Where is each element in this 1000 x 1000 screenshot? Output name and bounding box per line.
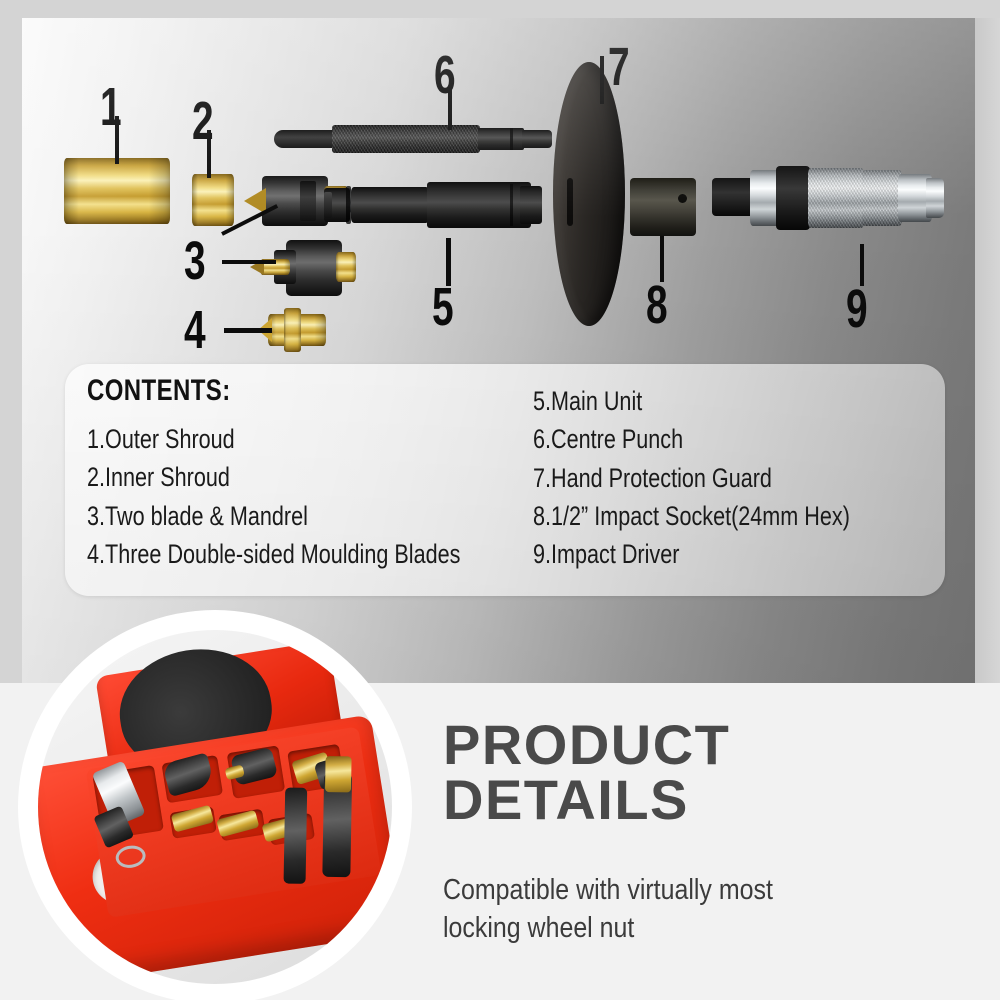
contents-item: 4.Three Double-sided Moulding Blades	[87, 535, 460, 573]
heading-line-1: PRODUCT	[443, 718, 730, 773]
callout-number-5: 5	[432, 280, 453, 334]
contents-panel: CONTENTS: 1.Outer Shroud 2.Inner Shroud …	[65, 364, 945, 596]
contents-item: 9.Impact Driver	[533, 535, 850, 573]
product-photo	[38, 630, 392, 984]
callout-number-9: 9	[846, 282, 867, 336]
tool-split-ring	[114, 844, 147, 870]
callout-number-7: 7	[608, 40, 629, 94]
callout-number-3: 3	[184, 234, 205, 288]
tool-centre-punch	[284, 788, 308, 884]
callout-number-6: 6	[434, 48, 455, 102]
contents-item: 2.Inner Shroud	[87, 458, 460, 496]
contents-right-column: 5.Main Unit 6.Centre Punch 7.Hand Protec…	[533, 382, 929, 574]
product-details-heading: PRODUCT DETAILS	[443, 718, 730, 828]
contents-item: 3.Two blade & Mandrel	[87, 497, 460, 535]
leader-line-7	[600, 56, 604, 104]
case-base	[38, 714, 392, 984]
leader-line-3b	[222, 260, 276, 264]
heading-line-2: DETAILS	[443, 773, 730, 828]
contents-left-column: 1.Outer Shroud 2.Inner Shroud 3.Two blad…	[87, 420, 554, 573]
right-edge-strip	[975, 18, 1000, 683]
contents-item: 1.Outer Shroud	[87, 420, 460, 458]
callout-number-2: 2	[192, 94, 213, 148]
part-impact-driver	[712, 158, 944, 248]
callout-number-8: 8	[646, 278, 667, 332]
callout-number-4: 4	[184, 303, 205, 357]
product-details-subtitle: Compatible with virtually most locking w…	[443, 872, 847, 947]
leader-line-4	[224, 328, 272, 333]
contents-item: 8.1/2” Impact Socket(24mm Hex)	[533, 497, 850, 535]
contents-title: CONTENTS:	[87, 374, 231, 408]
exploded-view-panel: 1 2 3 4	[22, 18, 975, 683]
contents-item: 7.Hand Protection Guard	[533, 459, 850, 497]
case-tray	[85, 727, 381, 918]
tool-case-illustration	[38, 637, 392, 984]
part-centre-punch	[274, 122, 552, 156]
product-photo-circle	[28, 620, 402, 994]
contents-item: 6.Centre Punch	[533, 420, 850, 458]
part-inner-shroud	[192, 174, 234, 226]
part-outer-shroud	[64, 158, 170, 224]
tool-main-unit-tip	[325, 756, 352, 792]
part-impact-socket	[630, 178, 696, 236]
part-main-unit	[324, 178, 542, 234]
contents-item: 5.Main Unit	[533, 382, 850, 420]
callout-number-1: 1	[100, 80, 121, 134]
part-mandrel-lower	[250, 240, 362, 296]
part-hand-protection-guard	[553, 62, 625, 326]
infographic-canvas: 1 2 3 4	[0, 0, 1000, 1000]
